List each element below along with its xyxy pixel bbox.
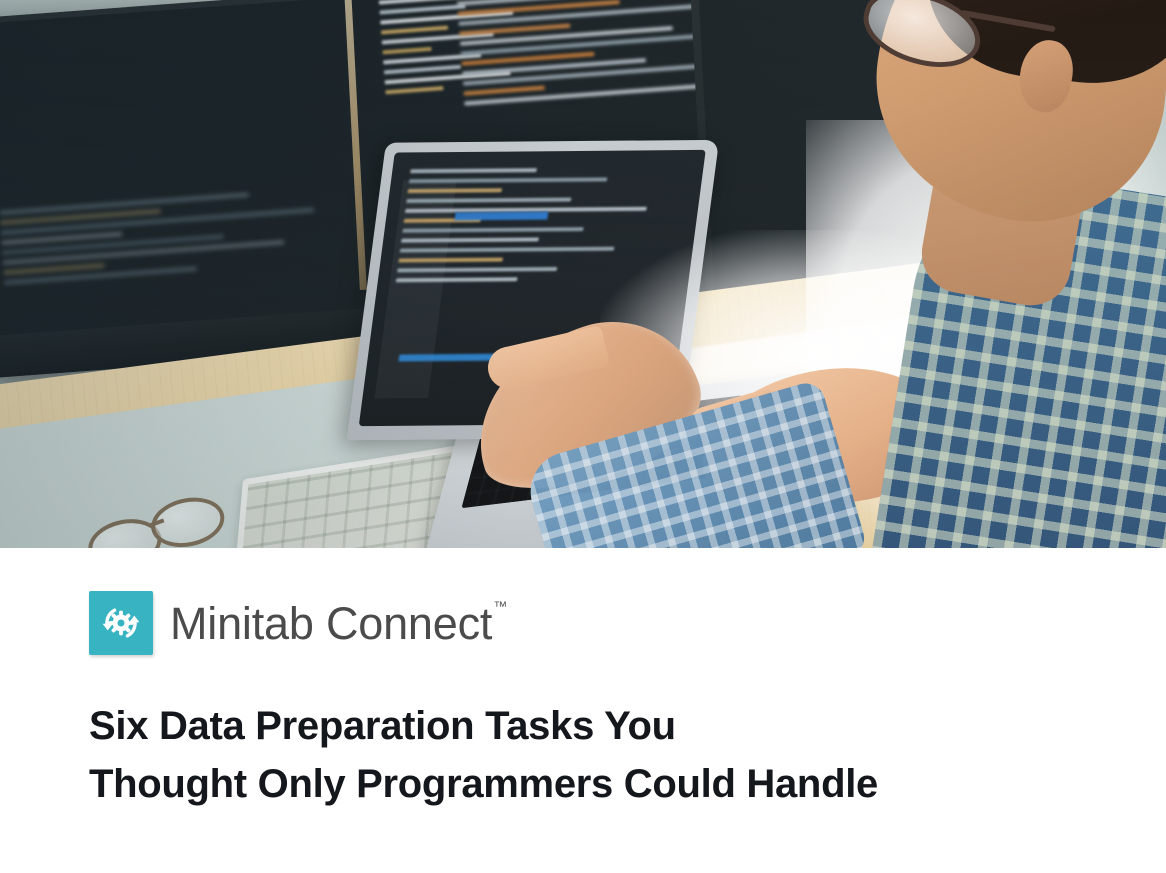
brand-name: Minitab Connect™ xyxy=(170,601,506,646)
page-title: Six Data Preparation Tasks You Thought O… xyxy=(89,698,1089,813)
code-lines-left xyxy=(0,182,406,291)
brand-lockup: Minitab Connect™ xyxy=(89,591,506,655)
sync-gear-icon xyxy=(89,591,153,655)
cover-content: Minitab Connect™ Six Data Preparation Ta… xyxy=(0,548,1166,873)
page-title-line-1: Six Data Preparation Tasks You xyxy=(89,698,1089,756)
trademark-symbol: ™ xyxy=(493,598,507,614)
hero-image xyxy=(0,0,1166,548)
ebook-cover-page: Minitab Connect™ Six Data Preparation Ta… xyxy=(0,0,1166,873)
brand-name-text: Minitab Connect xyxy=(170,598,492,649)
code-selection-highlight xyxy=(454,211,548,220)
page-title-line-2: Thought Only Programmers Could Handle xyxy=(89,756,1089,814)
